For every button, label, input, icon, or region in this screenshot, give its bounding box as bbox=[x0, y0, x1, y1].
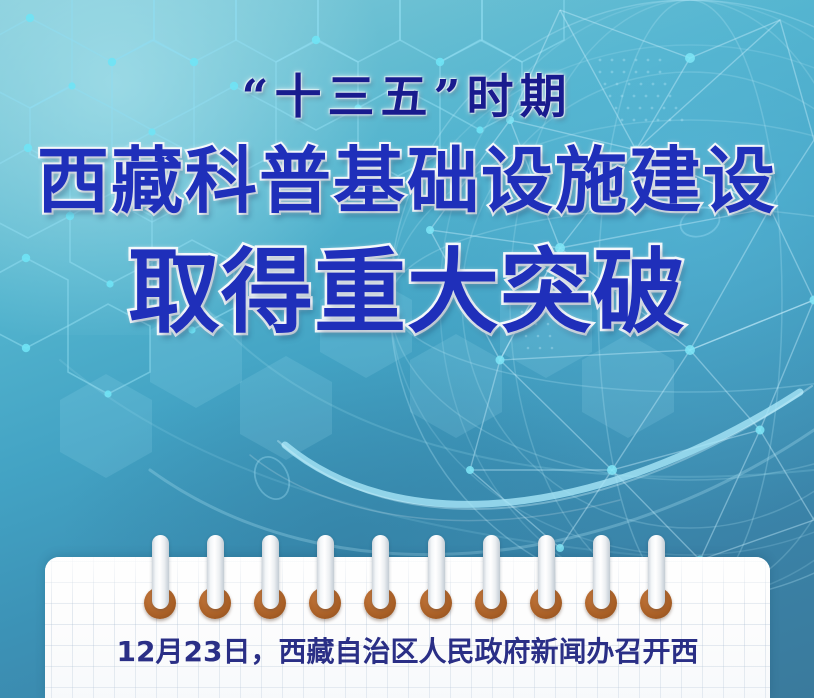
page-title-line-1: 西藏科普基础设施建设 bbox=[0, 145, 814, 217]
kicker-text: “十三五”时期 bbox=[0, 74, 814, 121]
infographic-poster: “十三五”时期 西藏科普基础设施建设 取得重大突破 12月23日，西藏自治区人民… bbox=[0, 0, 814, 698]
headline-block: “十三五”时期 西藏科普基础设施建设 取得重大突破 bbox=[0, 0, 814, 339]
page-title-line-2: 取得重大突破 bbox=[0, 247, 814, 339]
caption-text: 12月23日，西藏自治区人民政府新闻办召开西 bbox=[45, 630, 770, 670]
notebook-paper-sheen bbox=[45, 557, 770, 698]
notebook-card: 12月23日，西藏自治区人民政府新闻办召开西 bbox=[45, 557, 770, 698]
